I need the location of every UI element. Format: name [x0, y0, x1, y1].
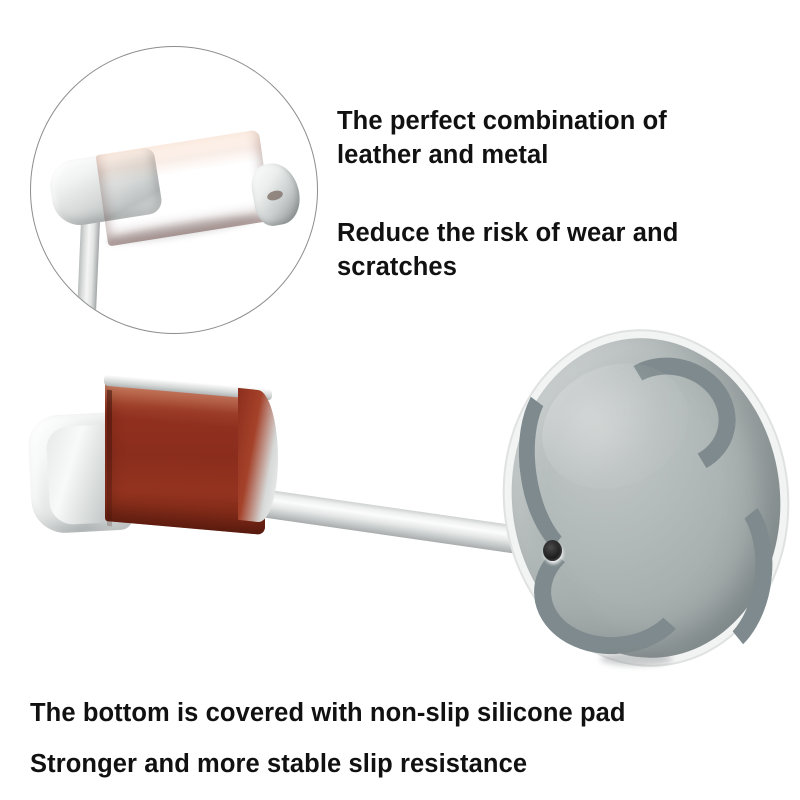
caption-slip-resistance: Stronger and more stable slip resistance: [30, 748, 770, 780]
detail-inset-circle: [30, 46, 318, 334]
inset-leather-highlight: [96, 130, 263, 187]
main-product-illustration: [0, 330, 800, 690]
base-screw-hole: [543, 540, 562, 561]
leather-seam: [107, 390, 112, 526]
headline-leather-metal: The perfect combination of leather and m…: [337, 104, 752, 172]
metal-cap-inner-face: [45, 424, 112, 525]
caption-silicone-pad: The bottom is covered with non-slip sili…: [30, 697, 770, 729]
headline-wear-scratches: Reduce the risk of wear and scratches: [337, 216, 757, 284]
product-feature-image: The perfect combination of leather and m…: [0, 0, 800, 800]
inset-stage: [31, 47, 317, 333]
base-contact-shadow: [600, 652, 672, 666]
leather-curl-end: [238, 388, 278, 524]
inset-leather-grip: [96, 130, 272, 247]
